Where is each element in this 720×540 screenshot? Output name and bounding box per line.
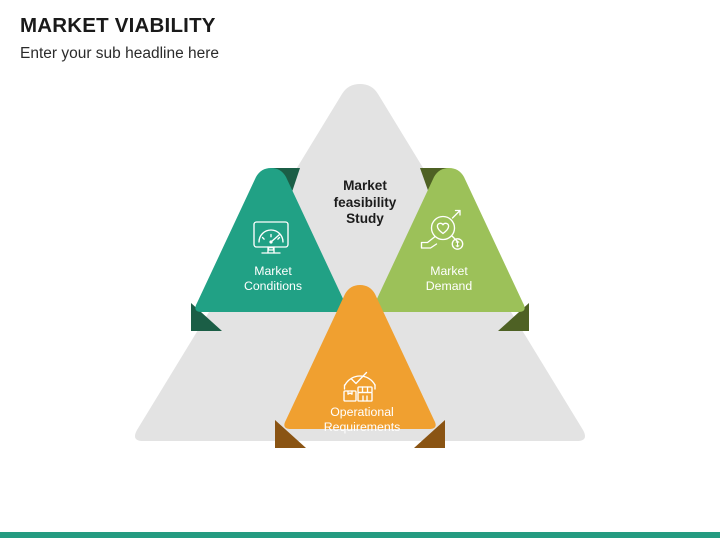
footer-accent-rule (0, 532, 720, 538)
market-viability-diagram: Market feasibility Study Market Conditio… (0, 60, 720, 480)
slide-header: MARKET VIABILITY Enter your sub headline… (20, 14, 680, 63)
page-title: MARKET VIABILITY (20, 14, 680, 38)
diagram-canvas (0, 60, 720, 480)
